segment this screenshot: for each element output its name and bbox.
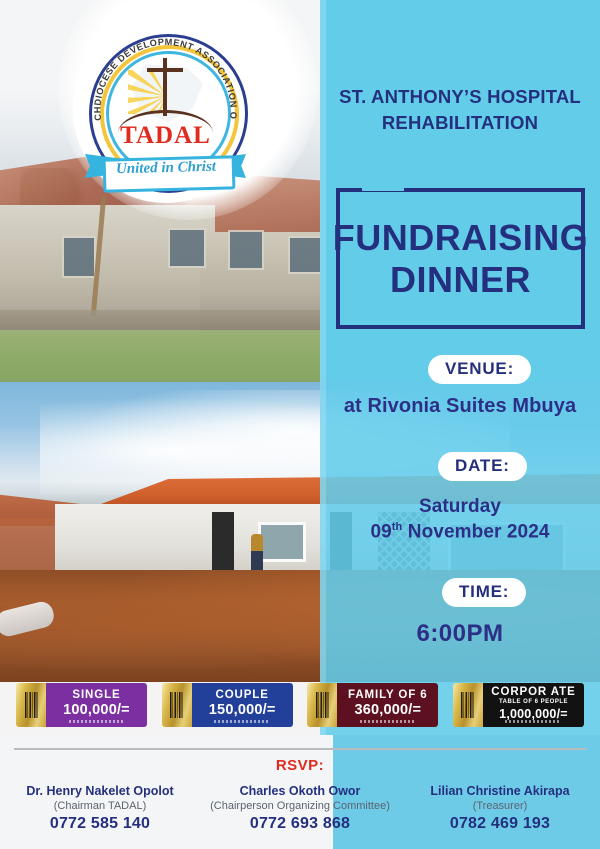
footer-divider [14,748,586,750]
tadal-logo: TORORO ARCHDIOCESE DEVELOPMENT ASSOCIATI… [73,18,258,203]
ticket-body: COUPLE 150,000/= [192,683,293,727]
ticket-family-of-6[interactable]: FAMILY OF 6 360,000/= [307,683,438,727]
contact-role: (Treasurer) [400,799,600,813]
contact-phone[interactable]: 0782 469 193 [400,814,600,834]
ticket-label: COUPLE [215,689,268,701]
contact-name: Charles Okoth Owor [200,783,400,799]
old-window [228,230,264,270]
date-value: Saturday 09th November 2024 [320,495,600,545]
ticket-price: 1,000,000/= [499,707,568,721]
ticket-single[interactable]: SINGLE 100,000/= [16,683,147,727]
date-label: DATE: [438,452,527,481]
ticket-price: 150,000/= [209,702,276,718]
barcode-icon [162,683,192,727]
contact-phone[interactable]: 0772 585 140 [0,814,200,834]
ticket-sublabel: TABLE OF 6 PEOPLE [499,699,568,706]
contact-name: Dr. Henry Nakelet Opolot [0,783,200,799]
barcode-icon [307,683,337,727]
ticket-body: CORPOR ATE TABLE OF 6 PEOPLE 1,000,000/= [483,683,584,727]
new-window [258,522,306,562]
title-line-1: ST. ANTHONY’S HOSPITAL [320,84,600,110]
event-headline-text: FUNDRAISING DINNER [336,188,585,329]
ticket-couple[interactable]: COUPLE 150,000/= [162,683,293,727]
old-window [62,236,96,278]
venue-value: at Rivonia Suites Mbuya [320,395,600,418]
contact-chairman: Dr. Henry Nakelet Opolot (Chairman TADAL… [0,783,200,835]
old-window [168,228,206,268]
rsvp-label: RSVP: [0,757,600,774]
ticket-label: FAMILY OF 6 [348,689,428,701]
barcode-icon [16,683,46,727]
contact-organizing-chairperson: Charles Okoth Owor (Chairperson Organizi… [200,783,400,835]
event-headline-box: FUNDRAISING DINNER [336,188,585,329]
ticket-price: 360,000/= [354,702,421,718]
contact-treasurer: Lilian Christine Akirapa (Treasurer) 078… [400,783,600,835]
venue-label: VENUE: [428,355,531,384]
ticket-label: CORPOR ATE [491,686,575,698]
old-window [288,236,322,274]
ticket-price-row: SINGLE 100,000/= COUPLE 150,000/= FAMILY… [0,679,600,731]
contact-role: (Chairperson Organizing Committee) [200,799,400,813]
event-headline-line-2: DINNER [390,259,531,300]
ticket-body: SINGLE 100,000/= [46,683,147,727]
contact-name: Lilian Christine Akirapa [400,783,600,799]
time-label: TIME: [442,578,526,607]
poster: TORORO ARCHDIOCESE DEVELOPMENT ASSOCIATI… [0,0,600,849]
ticket-price: 100,000/= [63,702,130,718]
time-value: 6:00PM [320,620,600,648]
ticket-body: FAMILY OF 6 360,000/= [337,683,438,727]
logo-ribbon: United in Christ [85,152,246,190]
contact-list: Dr. Henry Nakelet Opolot (Chairman TADAL… [0,783,600,835]
date-day-number: 09 [370,521,391,542]
worker-figure [251,534,263,572]
contact-role: (Chairman TADAL) [0,799,200,813]
event-headline-line-1: FUNDRAISING [333,217,589,258]
date-full: 09th November 2024 [320,520,600,545]
date-ordinal-suffix: th [392,521,403,533]
logo-motto: United in Christ [103,158,229,178]
ticket-corporate[interactable]: CORPOR ATE TABLE OF 6 PEOPLE 1,000,000/= [453,683,584,727]
cross-icon [163,58,167,116]
page-title: ST. ANTHONY’S HOSPITAL REHABILITATION [320,84,600,137]
new-door [212,512,234,574]
contact-phone[interactable]: 0772 693 868 [200,814,400,834]
title-line-2: REHABILITATION [320,110,600,136]
date-month-year: November 2024 [402,521,549,542]
cross-bar-icon [147,68,183,72]
ticket-label: SINGLE [72,689,120,701]
barcode-icon [453,683,483,727]
date-day: Saturday [320,495,600,520]
logo-acronym: TADAL [73,122,258,150]
